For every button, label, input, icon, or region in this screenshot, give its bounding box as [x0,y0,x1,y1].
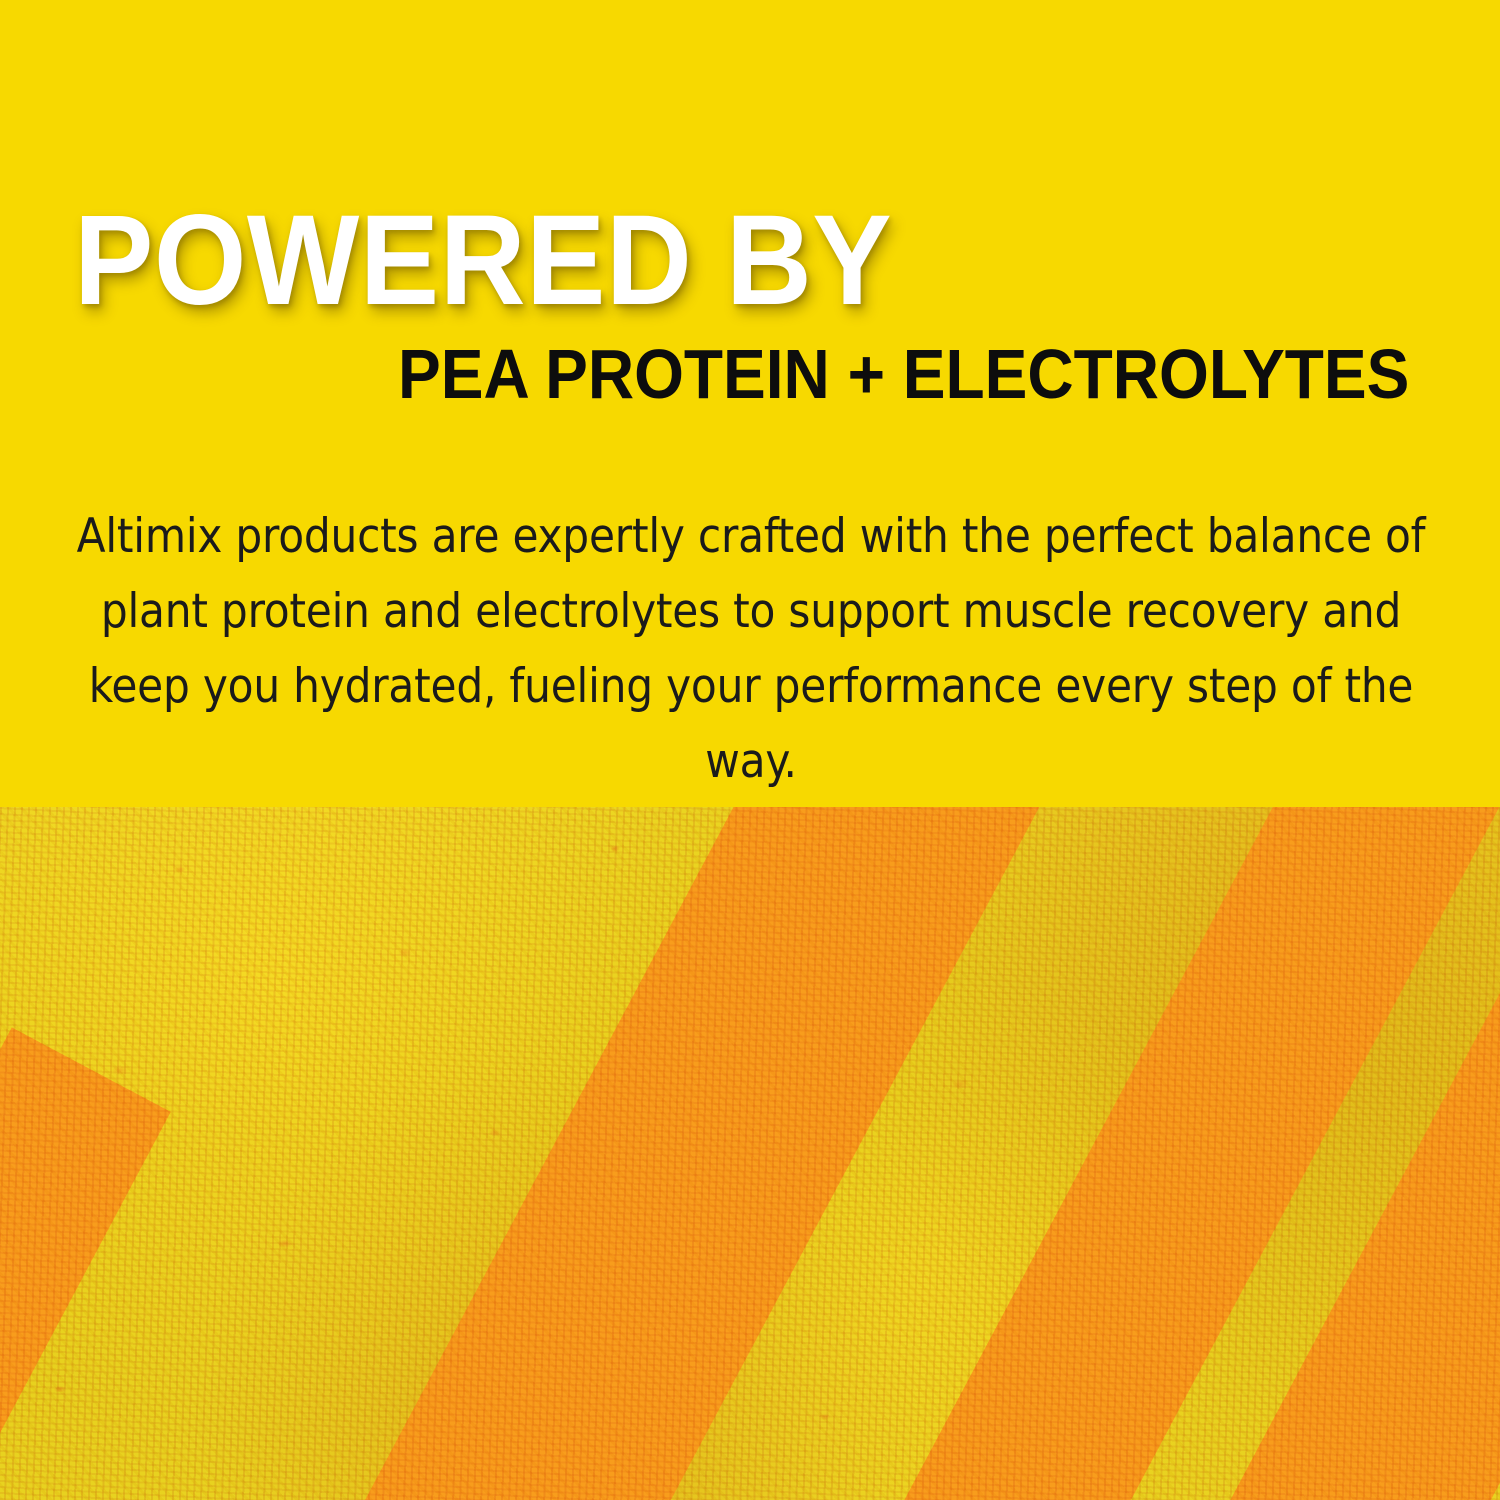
page-title: POWERED BY [74,198,1004,323]
texture-grain-layer [0,807,1500,1500]
nutrition-highlights-panel: Plant Protein 10 g /SCOOP K 300 mg POTAS… [0,807,1500,1500]
hero-subtitle: PEA PROTEIN + ELECTROLYTES [398,341,1395,407]
product-infographic: POWERED BY PEA PROTEIN + ELECTROLYTES Al… [0,0,1500,1500]
hero-description: Altimix products are expertly crafted wi… [46,499,1456,799]
hero-panel: POWERED BY PEA PROTEIN + ELECTROLYTES Al… [0,0,1500,807]
